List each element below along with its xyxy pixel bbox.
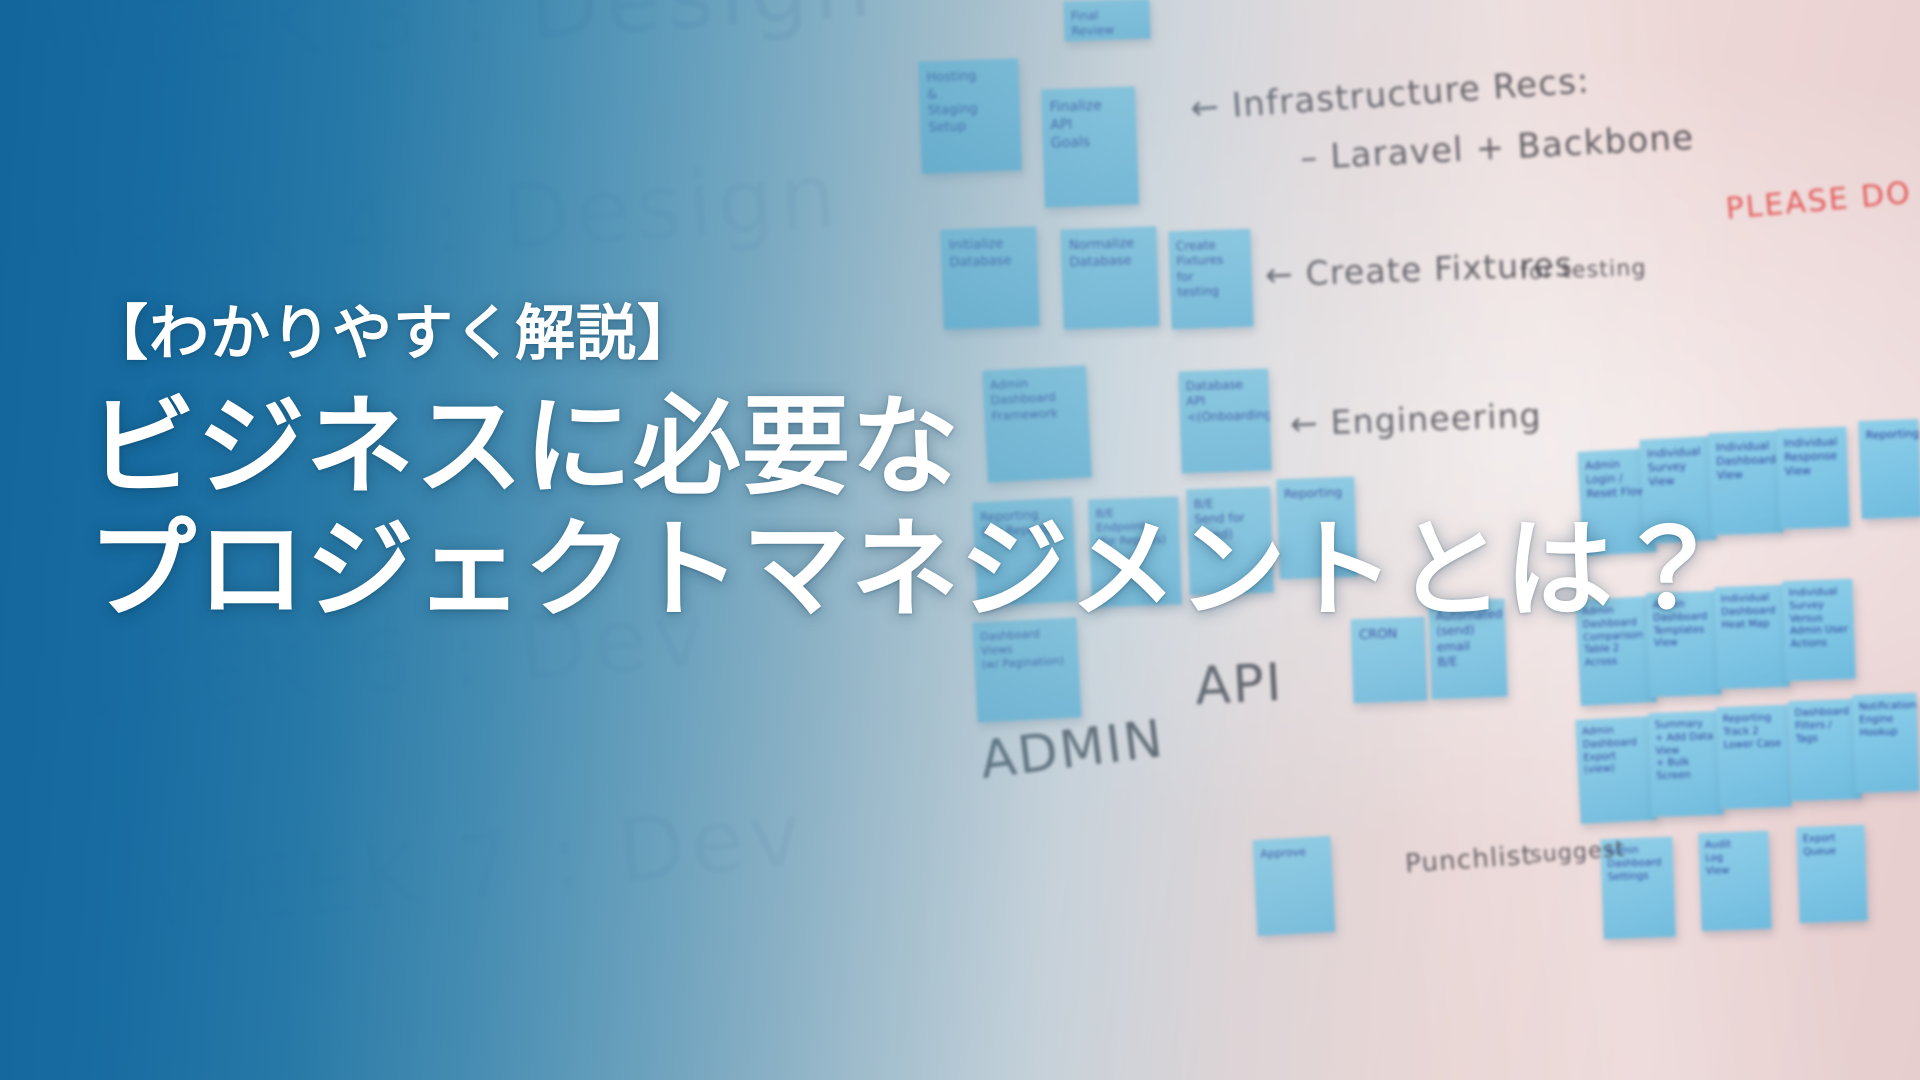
page-title: ビジネスに必要な プロジェクトマネジメントとは？ <box>88 385 1878 631</box>
hero-banner: WEEK 3 : DesignWEEK 4 : DesignWEEK 5WEEK… <box>0 0 1920 1080</box>
eyebrow-label: 【わかりやすく解説】 <box>88 300 1878 367</box>
headline-line-1: ビジネスに必要な <box>88 385 1878 508</box>
headline-line-2: プロジェクトマネジメントとは？ <box>88 508 1878 631</box>
hero-copy: 【わかりやすく解説】 ビジネスに必要な プロジェクトマネジメントとは？ <box>88 300 1878 631</box>
